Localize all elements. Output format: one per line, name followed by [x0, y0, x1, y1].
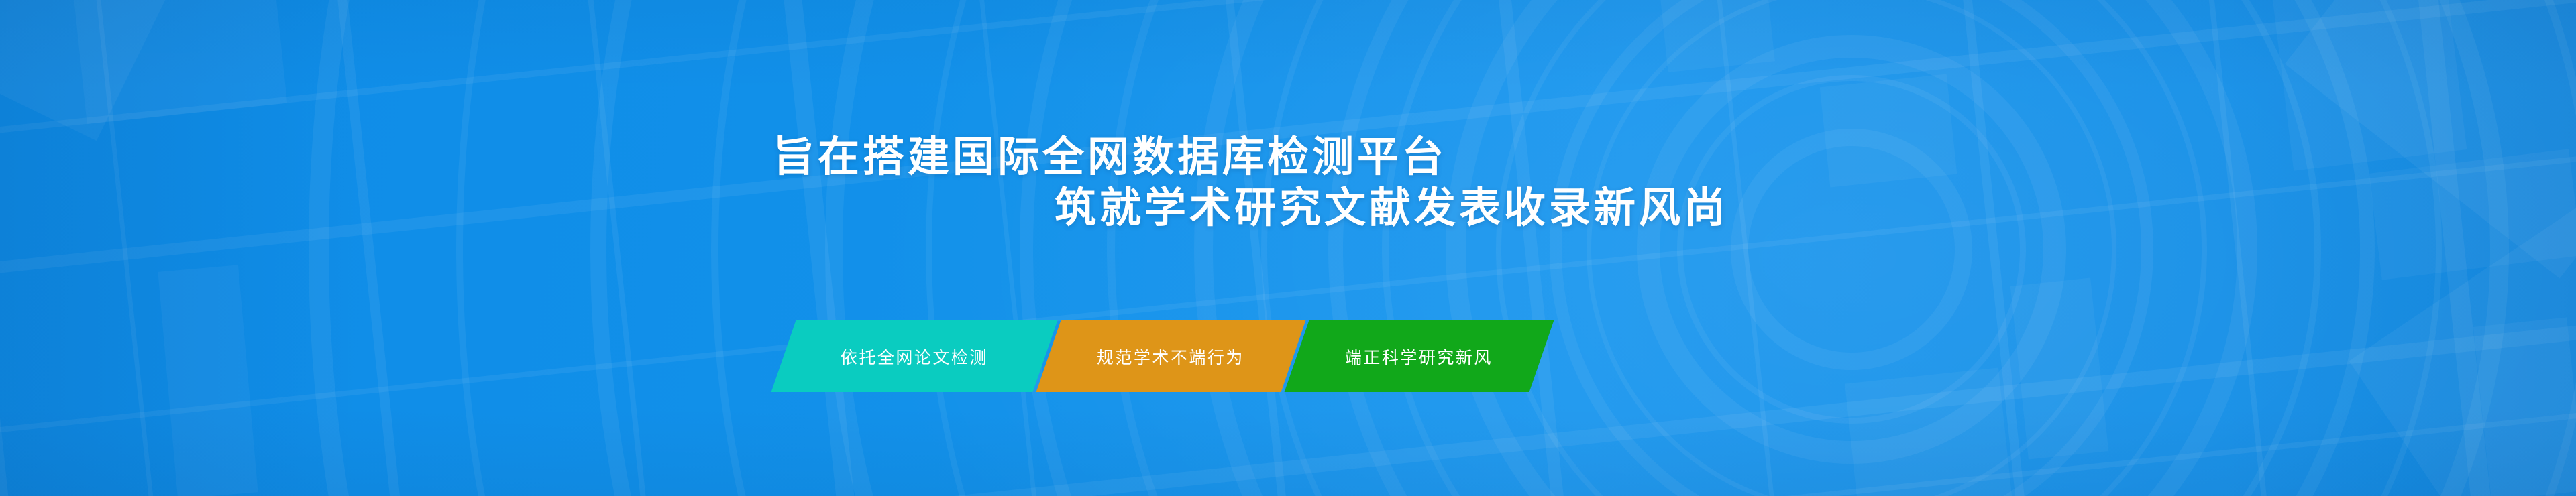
hero-banner: 旨在搭建国际全网数据库检测平台 筑就学术研究文献发表收录新风尚 依托全网论文检测… — [0, 0, 2576, 496]
arc-ring — [1194, 0, 2509, 496]
grid-line-vertical — [1682, 0, 1799, 496]
feature-tag-3-label: 端正科学研究新风 — [1345, 345, 1493, 369]
decor-wedge — [0, 0, 173, 141]
concentric-arc-rings — [0, 0, 2576, 496]
feature-tag-3[interactable]: 端正科学研究新风 — [1285, 320, 1554, 392]
grid-line-vertical — [1466, 0, 1591, 496]
arc-ring — [1587, 0, 2116, 496]
arc-ring — [1107, 0, 2576, 496]
arc-ring — [590, 0, 2576, 496]
grid-line-vertical — [79, 0, 196, 496]
decor-block — [1845, 368, 2012, 496]
headline-block: 旨在搭建国际全网数据库检测平台 筑就学术研究文献发表收录新风尚 — [0, 131, 2576, 233]
feature-tag-2-label: 规范学术不端行为 — [1097, 345, 1244, 369]
grid-line-vertical — [2376, 0, 2508, 496]
grid-line-horizontal — [0, 1, 2576, 496]
arc-ring — [1496, 0, 2207, 496]
arc-ring — [1020, 0, 2576, 496]
grid-line-vertical — [1196, 0, 1316, 496]
decor-block — [158, 265, 258, 496]
headline-line-2: 筑就学术研究文献发表收录新风尚 — [0, 182, 2576, 233]
decor-block — [72, 0, 287, 124]
feature-tag-strip: 依托全网论文检测 规范学术不端行为 端正科学研究新风 — [784, 320, 1542, 392]
grid-line-vertical — [318, 0, 440, 496]
background-blocks — [0, 0, 2576, 496]
arc-ring — [1328, 0, 2375, 496]
arc-ring — [1261, 0, 2442, 496]
arc-ring — [1382, 0, 2321, 496]
arc-ring — [825, 0, 2576, 496]
headline-line-1: 旨在搭建国际全网数据库检测平台 — [0, 131, 2576, 182]
arc-ring — [456, 0, 2576, 496]
arc-ring — [926, 0, 2576, 496]
feature-tag-2[interactable]: 规范学术不端行为 — [1036, 320, 1306, 392]
grid-line-vertical — [0, 0, 52, 496]
grid-line-vertical — [759, 0, 890, 496]
background-vignette — [0, 0, 2576, 496]
decor-block — [2010, 277, 2109, 459]
decor-block — [2473, 317, 2576, 496]
arc-ring — [1550, 0, 2153, 496]
decor-block — [1660, 0, 1775, 72]
grid-line-vertical — [1925, 0, 2047, 496]
arc-ring — [711, 0, 2576, 496]
grid-line-vertical — [953, 0, 1069, 496]
decor-wedge — [2349, 204, 2576, 496]
feature-tag-1[interactable]: 依托全网论文检测 — [771, 320, 1058, 392]
arc-ring — [309, 0, 2576, 496]
grid-line-vertical — [566, 0, 683, 496]
angled-grid-lines — [0, 0, 2576, 496]
background-gradient — [0, 0, 2576, 496]
arc-ring — [1677, 75, 2026, 424]
feature-tag-1-label: 依托全网论文检测 — [841, 345, 988, 369]
background-wedges — [0, 0, 2576, 496]
arc-ring — [1446, 0, 2257, 496]
arc-ring — [1637, 35, 2066, 464]
grid-line-vertical — [2169, 0, 2286, 496]
